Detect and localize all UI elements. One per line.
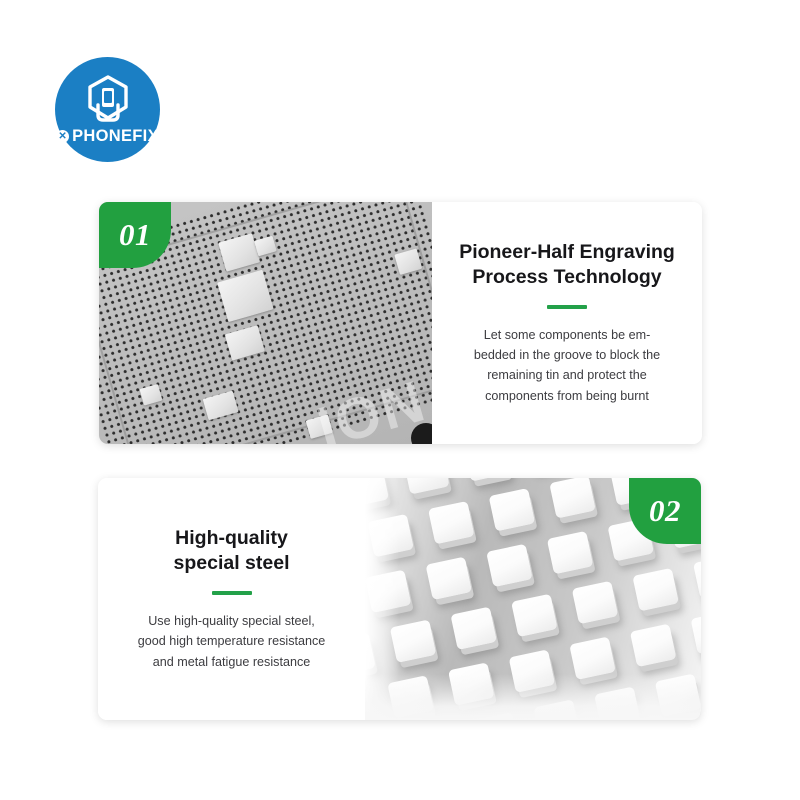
brand-logo: ✕ PHONEFIX xyxy=(55,57,160,162)
title-divider-02 xyxy=(212,591,252,595)
steel-block xyxy=(630,624,677,668)
steel-keycap-grid-photo: 02 xyxy=(365,478,701,720)
steel-block xyxy=(428,501,475,545)
steel-block xyxy=(489,488,536,532)
card-title-02: High-quality special steel xyxy=(174,526,290,576)
steel-block xyxy=(464,478,511,482)
title-divider-01 xyxy=(547,305,587,309)
card-description-01: Let some components be em- bedded in the… xyxy=(474,325,660,407)
steel-block xyxy=(693,555,701,599)
brand-wordmark: ✕ PHONEFIX xyxy=(56,127,159,146)
card-content-01: Pioneer-Half Engraving Process Technolog… xyxy=(432,202,702,444)
steel-block xyxy=(451,607,498,651)
card-title-01: Pioneer-Half Engraving Process Technolog… xyxy=(459,240,675,290)
steel-block xyxy=(633,568,680,612)
steel-block xyxy=(691,611,701,655)
bga-stencil-photo: ION 01 xyxy=(99,202,432,444)
steel-block xyxy=(572,581,619,625)
steel-block xyxy=(547,531,594,575)
card-description-02: Use high-quality special steel, good hig… xyxy=(138,611,326,672)
phone-in-hands-icon xyxy=(85,75,131,125)
steel-block xyxy=(550,478,597,519)
photo-bottom-fade xyxy=(365,674,701,720)
steel-block xyxy=(426,557,473,601)
photo-corner-artifact xyxy=(411,423,432,444)
feature-card-02[interactable]: 02 High-quality special steel Use high-q… xyxy=(98,478,701,720)
x-badge-icon: ✕ xyxy=(56,130,69,143)
steel-block xyxy=(403,478,450,495)
card-content-02: High-quality special steel Use high-qual… xyxy=(98,478,365,720)
steel-block xyxy=(486,544,533,588)
feature-card-01[interactable]: ION 01 Pioneer-Half Engraving Process Te… xyxy=(99,202,702,444)
stencil-pad xyxy=(306,415,334,440)
brand-name: PHONEFIX xyxy=(72,127,159,146)
steel-block xyxy=(511,594,558,638)
